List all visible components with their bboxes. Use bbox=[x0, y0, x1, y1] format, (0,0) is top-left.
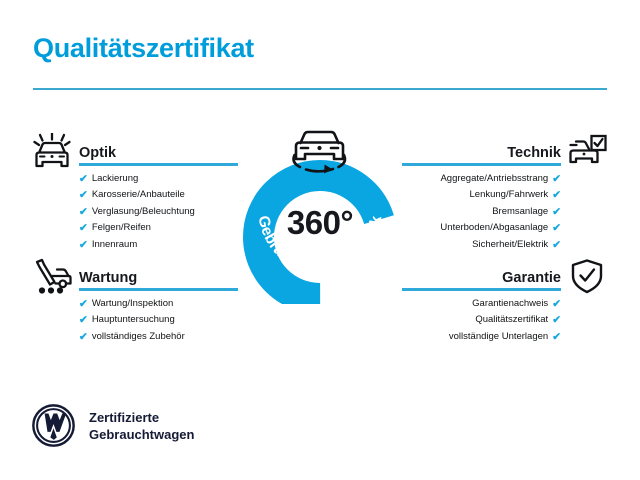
check-icon: ✔ bbox=[552, 332, 561, 343]
certificate-page: Qualitätszertifikat Opti bbox=[0, 0, 640, 480]
list-item-label: Aggregate/Antriebsstrang bbox=[440, 171, 548, 187]
list-item: Aggregate/Antriebsstrang ✔ bbox=[440, 171, 561, 187]
checklist-technik: Aggregate/Antriebsstrang ✔ Lenkung/Fahrw… bbox=[440, 171, 561, 253]
list-item: ✔ vollständiges Zubehör bbox=[79, 329, 185, 345]
badge-center-text: 360° bbox=[227, 204, 413, 242]
list-item: ✔ Verglasung/Beleuchtung bbox=[79, 204, 195, 220]
title-divider bbox=[33, 88, 607, 90]
list-item-label: Felgen/Reifen bbox=[92, 220, 151, 236]
section-divider-garantie bbox=[402, 288, 561, 291]
list-item-label: Lenkung/Fahrwerk bbox=[470, 187, 549, 203]
list-item-label: Bremsanlage bbox=[492, 204, 548, 220]
list-item: Sicherheit/Elektrik ✔ bbox=[440, 237, 561, 253]
list-item: Bremsanlage ✔ bbox=[440, 204, 561, 220]
list-item: Lenkung/Fahrwerk ✔ bbox=[440, 187, 561, 203]
list-item: ✔ Wartung/Inspektion bbox=[79, 296, 185, 312]
section-title-garantie: Garantie bbox=[502, 270, 561, 286]
list-item-label: Qualitätszertifikat bbox=[475, 312, 548, 328]
check-icon: ✔ bbox=[79, 223, 88, 234]
list-item: Garantienachweis ✔ bbox=[449, 296, 561, 312]
list-item-label: Wartung/Inspektion bbox=[92, 296, 174, 312]
section-wartung: Wartung ✔ Wartung/Inspektion ✔ Hauptunte… bbox=[33, 258, 238, 288]
badge-360-gebrauchtwagen-check: Gebrauchtwagen-Check 360° bbox=[227, 118, 413, 304]
list-item-label: Hauptuntersuchung bbox=[92, 312, 175, 328]
list-item-label: Garantienachweis bbox=[472, 296, 548, 312]
list-item-label: Karosserie/Anbauteile bbox=[92, 187, 185, 203]
check-icon: ✔ bbox=[552, 315, 561, 326]
list-item-label: Sicherheit/Elektrik bbox=[472, 237, 548, 253]
list-item-label: Verglasung/Beleuchtung bbox=[92, 204, 195, 220]
list-item-label: vollständige Unterlagen bbox=[449, 329, 548, 345]
section-garantie: Garantie Garantienachweis ✔ Qualitätszer… bbox=[402, 258, 607, 288]
section-title-optik: Optik bbox=[79, 145, 116, 161]
check-icon: ✔ bbox=[552, 174, 561, 185]
list-item: ✔ Lackierung bbox=[79, 171, 195, 187]
list-item-label: Unterboden/Abgasanlage bbox=[440, 220, 548, 236]
check-icon: ✔ bbox=[79, 299, 88, 310]
check-icon: ✔ bbox=[552, 240, 561, 251]
footer-brand: Zertifizierte Gebrauchtwagen bbox=[31, 403, 194, 448]
section-divider-wartung bbox=[79, 288, 238, 291]
list-item: ✔ Karosserie/Anbauteile bbox=[79, 187, 195, 203]
page-title: Qualitätszertifikat bbox=[33, 33, 254, 64]
list-item: Qualitätszertifikat ✔ bbox=[449, 312, 561, 328]
check-icon: ✔ bbox=[79, 174, 88, 185]
section-divider-optik bbox=[79, 163, 238, 166]
check-icon: ✔ bbox=[79, 240, 88, 251]
check-icon: ✔ bbox=[79, 332, 88, 343]
check-icon: ✔ bbox=[79, 315, 88, 326]
check-icon: ✔ bbox=[79, 207, 88, 218]
checklist-optik: ✔ Lackierung ✔ Karosserie/Anbauteile ✔ V… bbox=[79, 171, 195, 253]
section-divider-technik bbox=[402, 163, 561, 166]
checklist-garantie: Garantienachweis ✔ Qualitätszertifikat ✔… bbox=[449, 296, 561, 345]
section-optik: Optik ✔ Lackierung ✔ Karosserie/Anbautei… bbox=[33, 133, 238, 163]
footer-label: Zertifizierte Gebrauchtwagen bbox=[89, 409, 194, 443]
check-icon: ✔ bbox=[552, 207, 561, 218]
section-technik: Technik Aggregate/Antriebsstrang ✔ Lenku… bbox=[402, 133, 607, 163]
list-item: ✔ Innenraum bbox=[79, 237, 195, 253]
list-item: vollständige Unterlagen ✔ bbox=[449, 329, 561, 345]
section-title-technik: Technik bbox=[507, 145, 561, 161]
check-icon: ✔ bbox=[552, 223, 561, 234]
list-item: ✔ Felgen/Reifen bbox=[79, 220, 195, 236]
check-icon: ✔ bbox=[552, 190, 561, 201]
vw-logo bbox=[31, 403, 76, 448]
checklist-wartung: ✔ Wartung/Inspektion ✔ Hauptuntersuchung… bbox=[79, 296, 185, 345]
list-item-label: vollständiges Zubehör bbox=[92, 329, 185, 345]
list-item-label: Lackierung bbox=[92, 171, 138, 187]
section-title-wartung: Wartung bbox=[79, 270, 137, 286]
check-icon: ✔ bbox=[552, 299, 561, 310]
list-item: Unterboden/Abgasanlage ✔ bbox=[440, 220, 561, 236]
list-item-label: Innenraum bbox=[92, 237, 137, 253]
check-icon: ✔ bbox=[79, 190, 88, 201]
footer-line-1: Zertifizierte bbox=[89, 409, 194, 426]
footer-line-2: Gebrauchtwagen bbox=[89, 426, 194, 443]
list-item: ✔ Hauptuntersuchung bbox=[79, 312, 185, 328]
